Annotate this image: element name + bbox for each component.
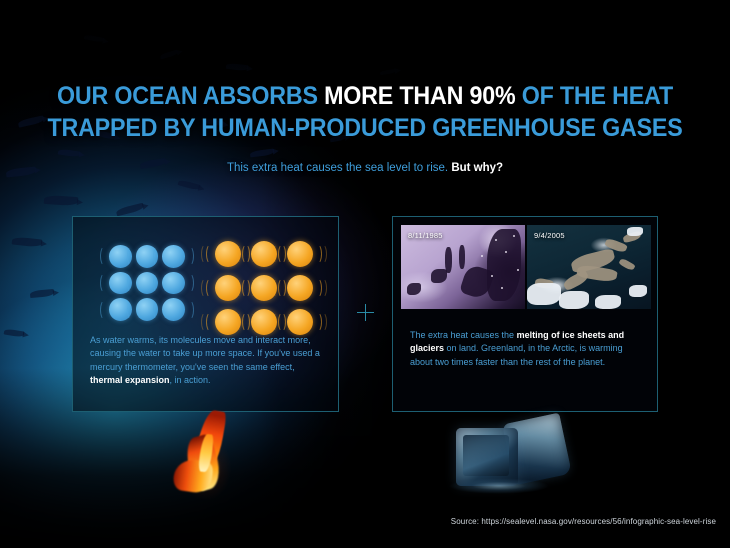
glacier-comparison: 8/11/1985 9/4/2005	[401, 225, 651, 309]
copy-text-a: The extra heat causes the	[410, 330, 517, 340]
molecule-dot	[287, 275, 313, 301]
photo-date-label: 9/4/2005	[534, 231, 565, 240]
source-attribution: Source: https://sealevel.nasa.gov/resour…	[451, 517, 716, 526]
plus-icon	[357, 304, 374, 321]
molecule-dot	[162, 298, 185, 321]
glacier-photo-2005: 9/4/2005	[527, 225, 651, 309]
flame-illustration	[168, 408, 242, 504]
headline-line-1: OUR OCEAN ABSORBS MORE THAN 90% OF THE H…	[26, 80, 705, 112]
ice-melt-copy: The extra heat causes the melting of ice…	[410, 329, 641, 369]
thermal-expansion-panel: As water warms, its molecules move and i…	[72, 216, 339, 412]
headline-text-b: OF THE HEAT	[515, 82, 673, 110]
cold-molecule-grid	[109, 245, 185, 321]
copy-text-a: As water warms, its molecules move and i…	[90, 335, 320, 372]
copy-emphasis: thermal expansion	[90, 375, 170, 385]
thermal-expansion-copy: As water warms, its molecules move and i…	[90, 334, 322, 388]
molecule-diagram	[73, 235, 340, 335]
subtitle-statement: This extra heat causes the sea level to …	[227, 162, 448, 174]
molecule-dot	[162, 245, 185, 268]
molecule-dot	[162, 272, 185, 295]
molecule-dot	[287, 309, 313, 335]
headline-highlight: MORE THAN 90%	[324, 82, 515, 110]
page-title: OUR OCEAN ABSORBS MORE THAN 90% OF THE H…	[26, 80, 705, 144]
ice-cubes-illustration	[438, 410, 578, 502]
melt-water	[440, 478, 568, 498]
warm-molecule-grid	[215, 241, 313, 327]
subtitle: This extra heat causes the sea level to …	[0, 162, 730, 174]
ice-melt-panel: 8/11/1985 9/4/2005	[392, 216, 658, 412]
infographic-canvas: OUR OCEAN ABSORBS MORE THAN 90% OF THE H…	[0, 0, 730, 548]
copy-text-b: , in action.	[170, 375, 211, 385]
subtitle-question: But why?	[451, 162, 503, 174]
photo-date-label: 8/11/1985	[408, 231, 443, 240]
molecule-dot	[287, 241, 313, 267]
glacier-photo-1985: 8/11/1985	[401, 225, 525, 309]
headline-text-a: OUR OCEAN ABSORBS	[57, 82, 324, 110]
headline-line-2: TRAPPED BY HUMAN-PRODUCED GREENHOUSE GAS…	[26, 112, 705, 144]
